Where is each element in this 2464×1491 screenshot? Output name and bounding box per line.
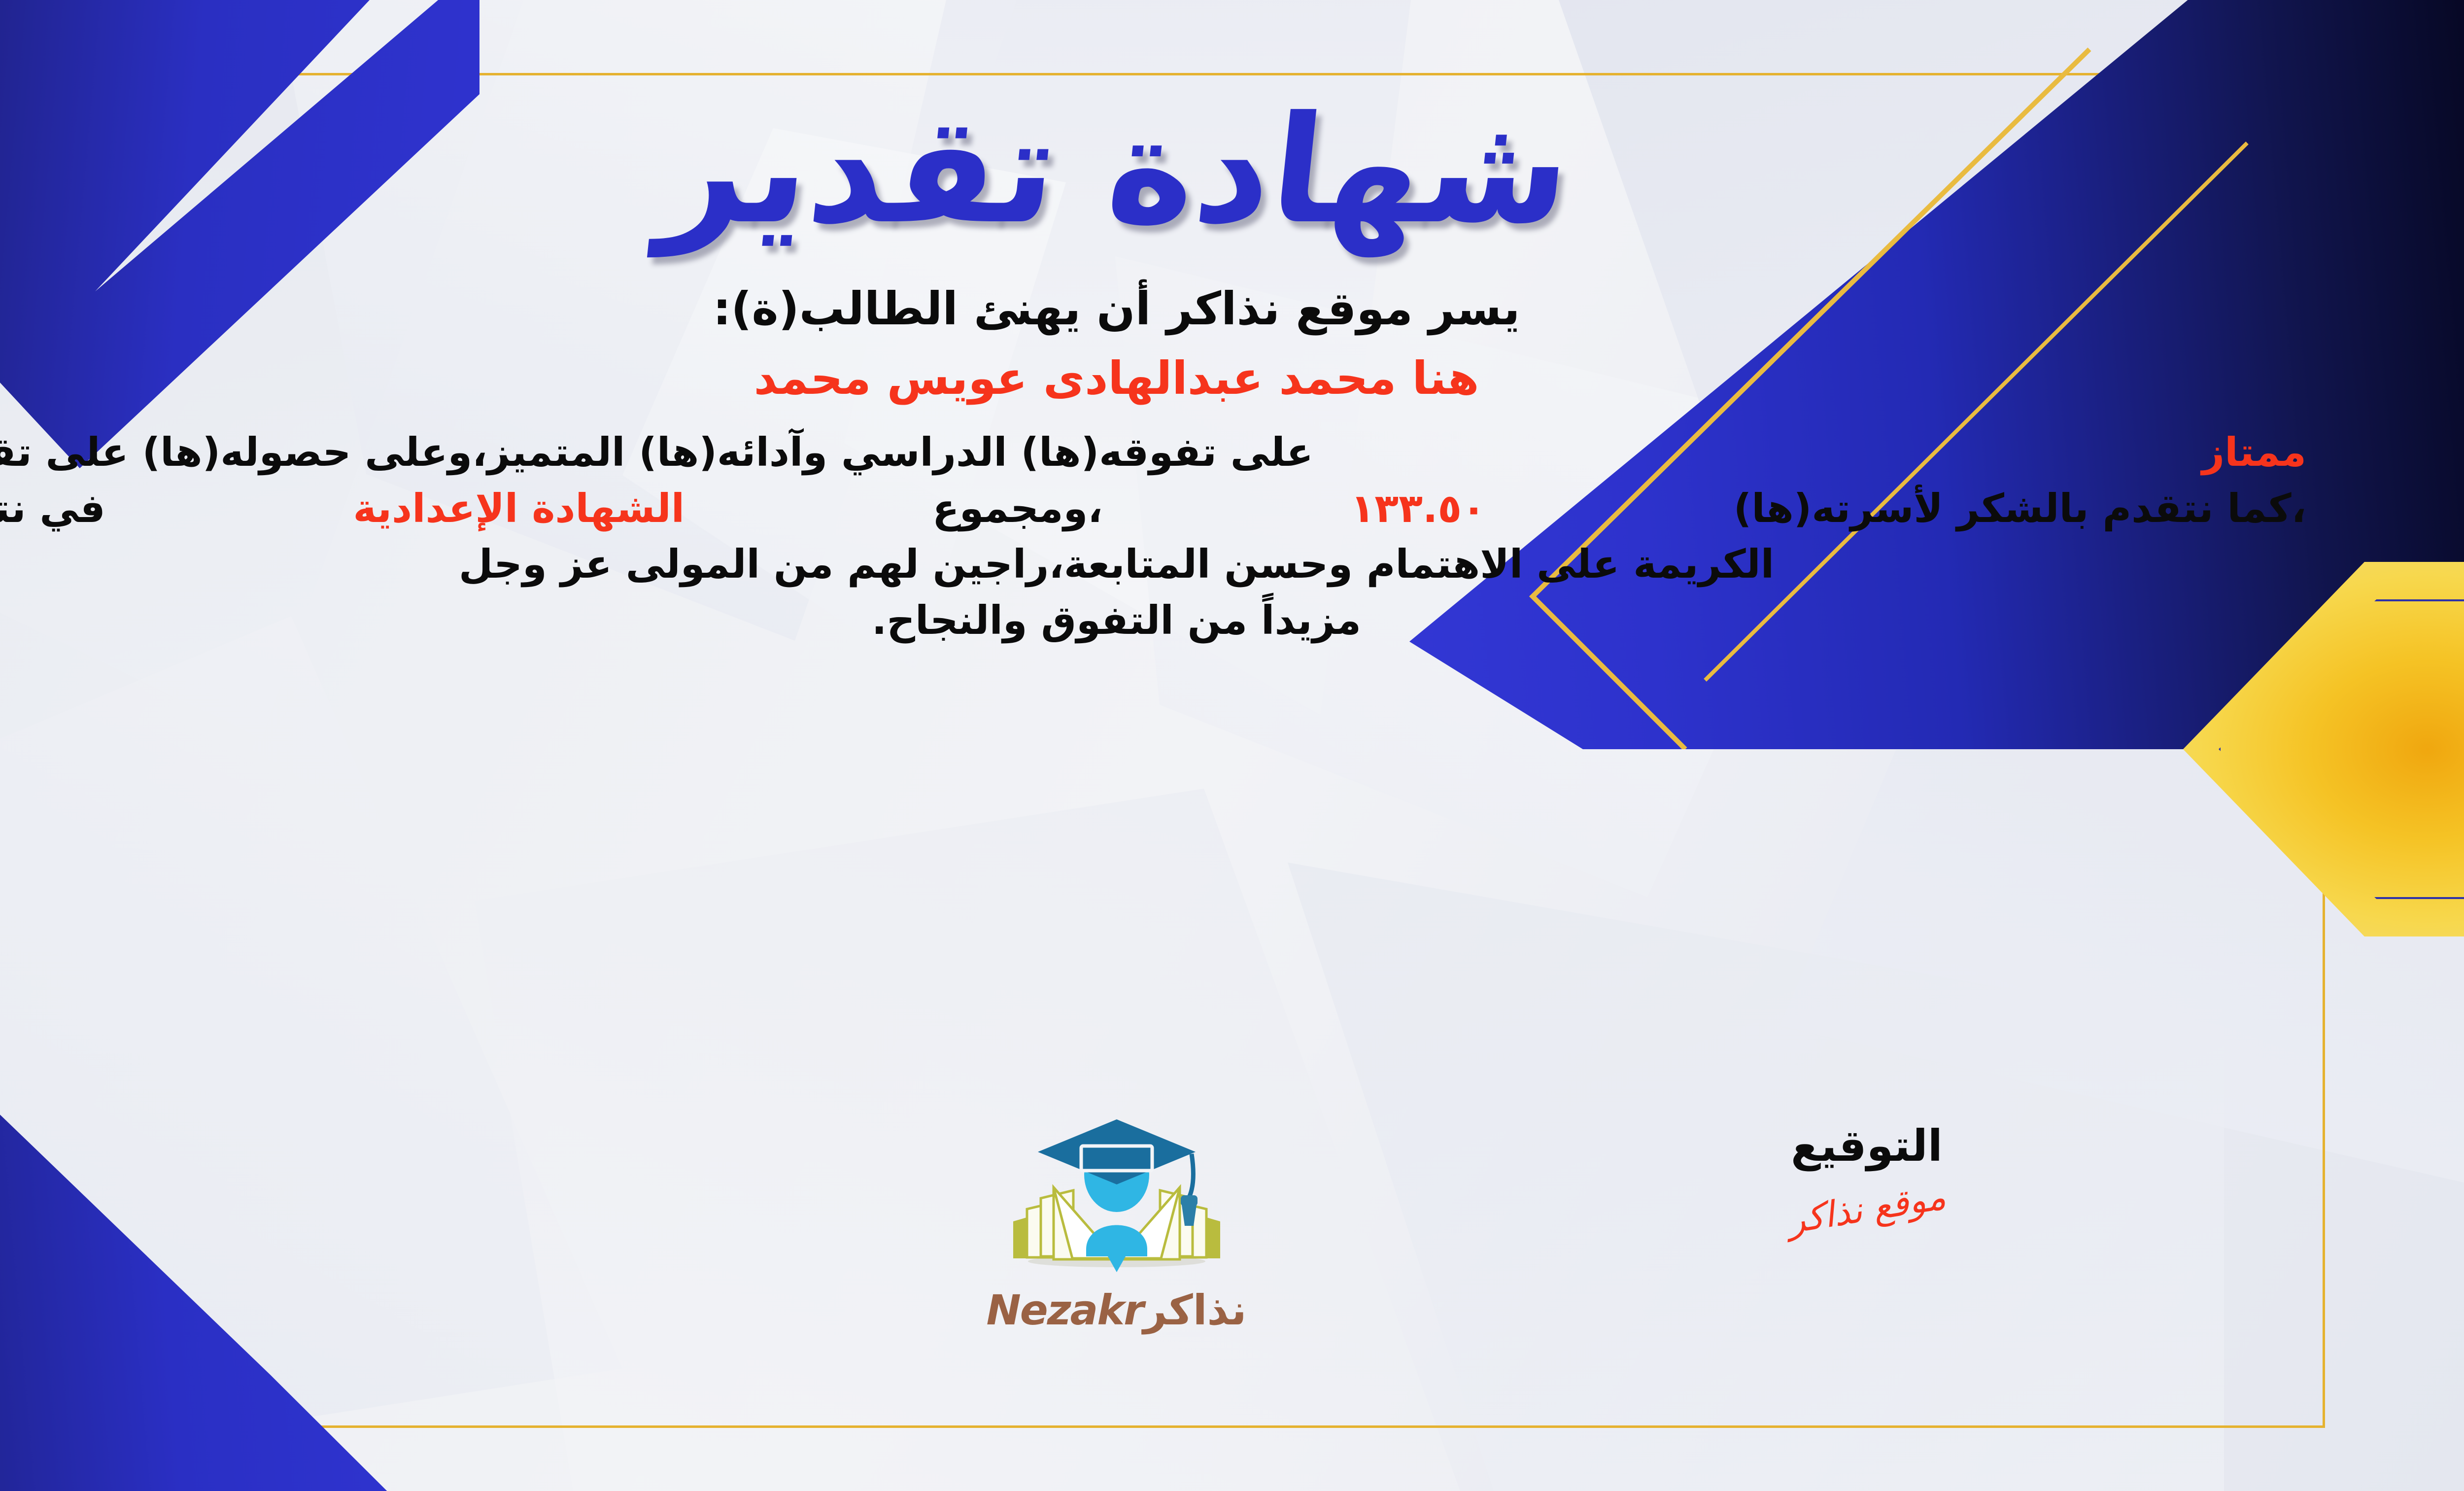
- body-line-6: مزيداً من التفوق والنجاح.: [0, 592, 2325, 649]
- grade-value: ممتاز: [2202, 424, 2306, 481]
- certificate-content: شهادة تقدير يسر موقع نذاكر أن يهنئ الطال…: [0, 73, 2325, 1428]
- logo-mark: [998, 1115, 1235, 1283]
- graduate-book-icon: [998, 1115, 1235, 1283]
- greeting-line: يسر موقع نذاكر أن يهنئ الطالب(ة):: [713, 282, 1520, 335]
- body-line-5: الكريمة على الاهتمام وحسن المتابعة،راجين…: [0, 536, 2325, 592]
- body-line-3-text: على تفوقه(ها) الدراسي وآدائه(ها) المتميز…: [0, 424, 1313, 481]
- body-line-4-middle: ،ومجموع: [932, 481, 1103, 537]
- signature-block: التوقيع موقع نذاكر: [1714, 1120, 2019, 1229]
- body-line-4-tail: ،كما نتقدم بالشكر لأسرته(ها): [1734, 481, 2306, 537]
- certificate-page: شهادة تقدير يسر موقع نذاكر أن يهنئ الطال…: [0, 0, 2464, 1491]
- total-score-value: ١٣٣.٥٠: [1350, 481, 1486, 537]
- student-name: هنا محمد عبدالهادى عويس محمد: [754, 352, 1479, 405]
- nezakr-logo: نذاكر Nezakr: [979, 1115, 1255, 1391]
- certificate-footer: التوقيع موقع نذاكر: [0, 1115, 2325, 1421]
- signature-handwriting: موقع نذاكر: [1785, 1176, 1949, 1242]
- body-line-6-text: مزيداً من التفوق والنجاح.: [872, 592, 1361, 649]
- certificate-body: ممتاز على تفوقه(ها) الدراسي وآدائه(ها) ا…: [0, 424, 2325, 648]
- exam-name-value: الشهادة الإعدادية: [353, 481, 684, 537]
- signature-label: التوقيع: [1714, 1120, 2019, 1171]
- body-line-3: ممتاز على تفوقه(ها) الدراسي وآدائه(ها) ا…: [0, 424, 2325, 481]
- body-line-5-text: الكريمة على الاهتمام وحسن المتابعة،راجين…: [459, 536, 1774, 592]
- body-line-4: ،كما نتقدم بالشكر لأسرته(ها) ١٣٣.٥٠ ،ومج…: [0, 481, 2325, 537]
- body-line-4-head: في نتيجة: [0, 481, 105, 537]
- logo-wordmark: نذاكر Nezakr: [986, 1286, 1246, 1334]
- logo-arabic-text: نذاكر: [1143, 1286, 1247, 1334]
- certificate-title: شهادة تقدير: [654, 93, 1578, 248]
- logo-english-text: Nezakr: [986, 1286, 1143, 1334]
